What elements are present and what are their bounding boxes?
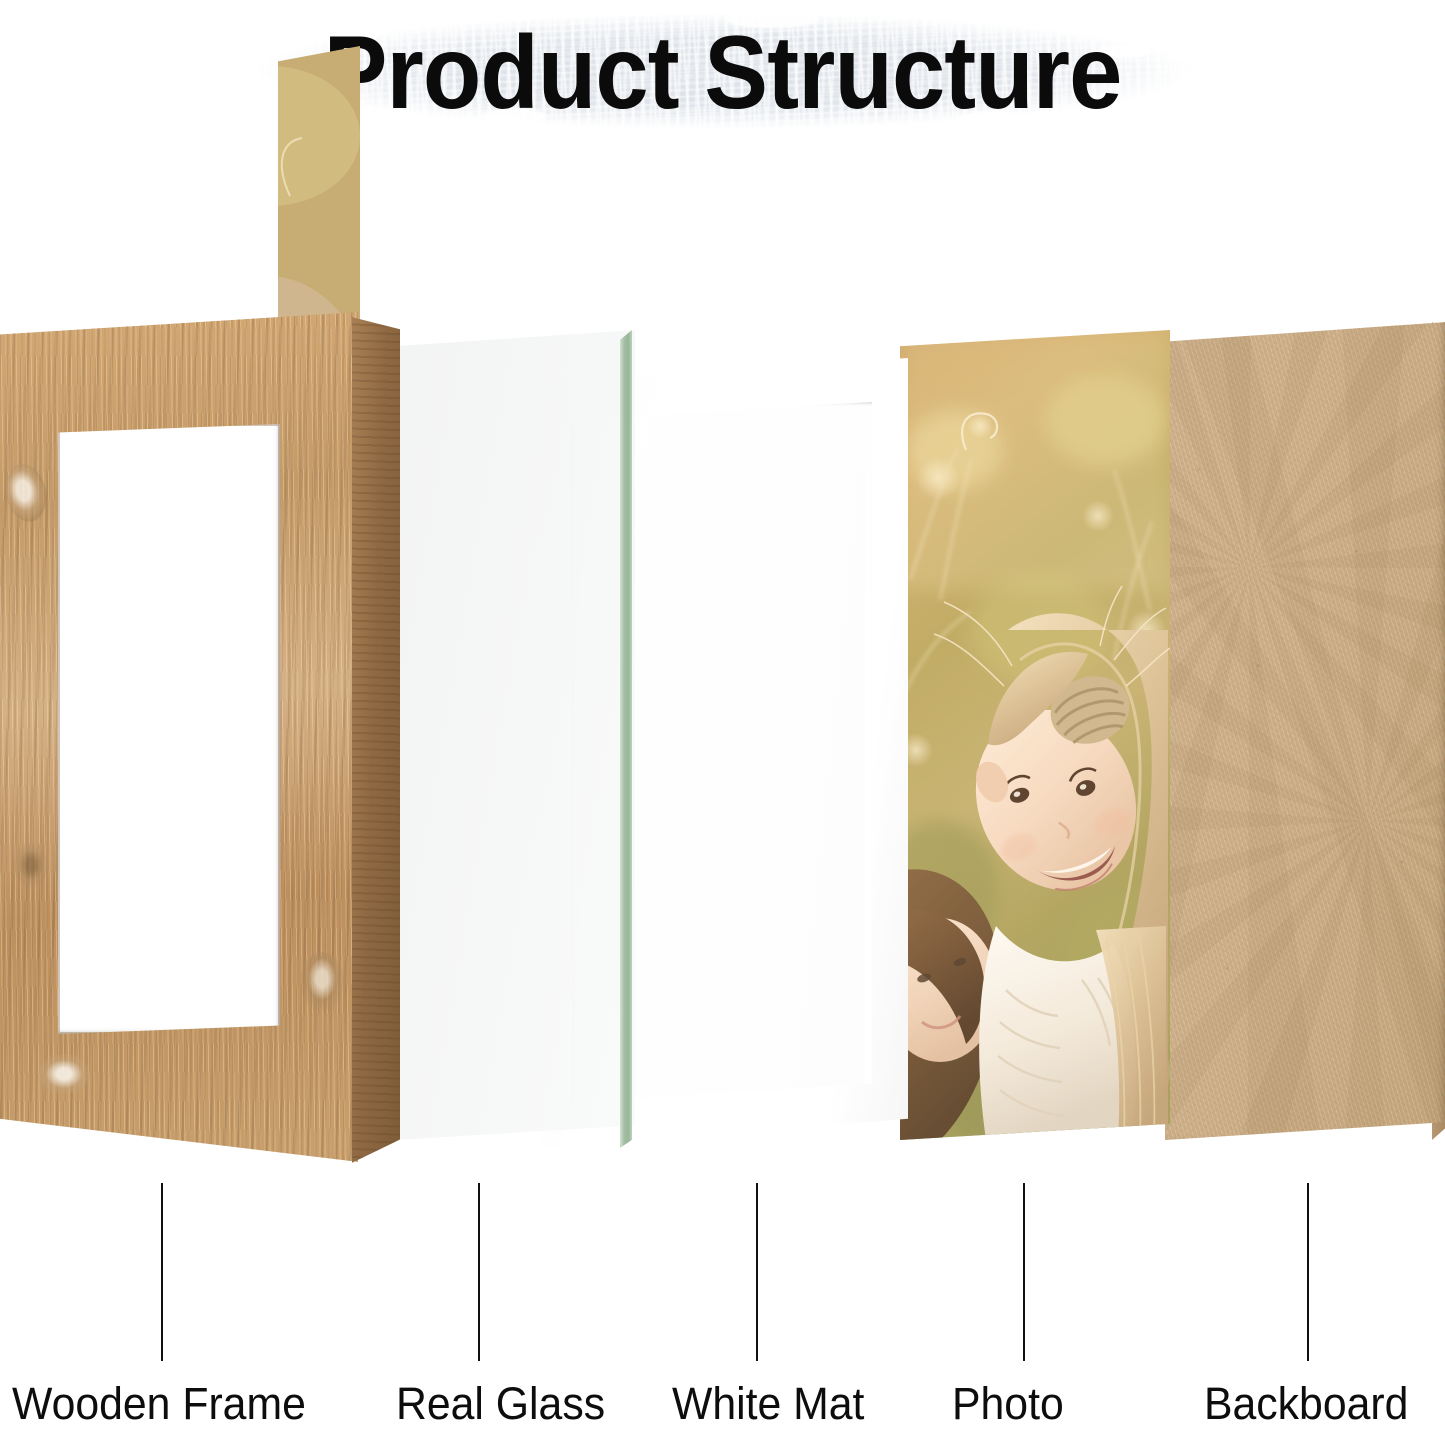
leader-line-real-glass [478,1183,480,1361]
label-real-glass: Real Glass [396,1378,605,1430]
label-photo: Photo [952,1378,1064,1430]
leader-line-photo [1023,1183,1025,1361]
photo-artwork [900,330,1170,1140]
wooden-frame [0,312,400,1174]
exploded-view-diagram [0,0,1445,1438]
frame-side-edge [352,312,400,1174]
label-white-mat: White Mat [672,1378,864,1430]
glass-edge-highlight [620,330,632,1148]
frame-opening [58,424,280,1034]
label-backboard: Backboard [1204,1378,1408,1430]
glass-sheet [395,330,635,1140]
leader-line-backboard [1307,1183,1309,1361]
photo-print [900,330,1170,1140]
layer-labels: Wooden Frame Real Glass White Mat Photo … [0,1378,1445,1438]
leader-line-white-mat [756,1183,758,1361]
frame-silhouette [0,312,400,1174]
backboard-panel [1165,322,1445,1140]
leader-line-wooden-frame [161,1183,163,1361]
label-wooden-frame: Wooden Frame [12,1378,306,1430]
